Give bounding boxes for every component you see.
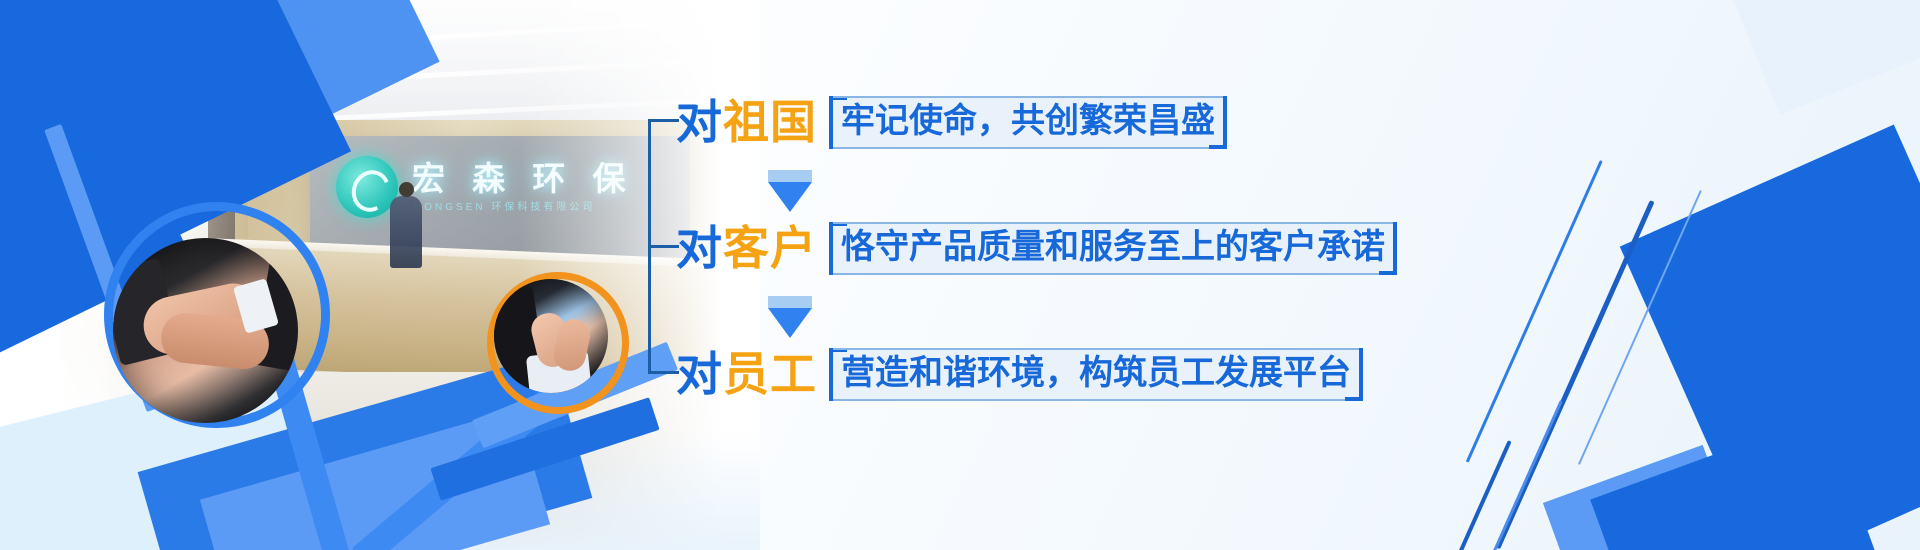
down-arrow-icon: [768, 170, 812, 212]
receptionist-figure: [390, 196, 422, 268]
slogan-lead-employee: 对员工: [676, 351, 817, 397]
slogan-group: 对祖国 牢记使命，共创繁荣昌盛 对客户 恪守产品质量: [648, 74, 1668, 394]
slogan-quote-country: 牢记使命，共创繁荣昌盛: [829, 96, 1227, 149]
bracket-branch: [651, 371, 679, 374]
arrow-bar: [768, 170, 812, 182]
quote-border-top: [829, 348, 1363, 350]
quote-border-left: [829, 96, 833, 149]
slogan-object: 祖国: [723, 96, 817, 148]
bracket-branch: [651, 119, 679, 122]
slogan-quote-employee: 营造和谐环境，构筑员工发展平台: [829, 348, 1363, 401]
quote-border-left: [829, 222, 833, 275]
slogan-prefix: 对: [676, 348, 723, 400]
bracket-connector: [648, 119, 679, 374]
quote-border-bottom: [829, 147, 1227, 149]
quote-border-bottom: [829, 273, 1397, 275]
slogan-quote-text: 牢记使命，共创繁荣昌盛: [841, 102, 1215, 140]
quote-border-left: [829, 348, 833, 401]
quote-border-right: [1223, 96, 1227, 149]
slogan-quote-text: 营造和谐环境，构筑员工发展平台: [841, 354, 1351, 392]
company-culture-banner: 宏 森 环 保 HONGSEN 环保科技有限公司: [0, 0, 1920, 550]
arrow-triangle: [768, 182, 812, 212]
slogan-object: 客户: [723, 222, 817, 274]
quote-border-top: [829, 96, 1227, 98]
quote-border-right: [1393, 222, 1397, 275]
quote-border-right: [1359, 348, 1363, 401]
slogan-row-customer: 对客户 恪守产品质量和服务至上的客户承诺: [676, 222, 1397, 275]
applause-photo: [494, 279, 608, 393]
quote-border-bottom: [829, 399, 1363, 401]
slogan-lead-customer: 对客户: [676, 225, 817, 271]
company-logo-icon: [336, 156, 398, 218]
decor-polygon-top-right: [1716, 0, 1920, 115]
down-arrow-icon: [768, 296, 812, 338]
slogan-object: 员工: [723, 348, 817, 400]
quote-border-top: [829, 222, 1397, 224]
slogan-prefix: 对: [676, 96, 723, 148]
slogan-lead-country: 对祖国: [676, 99, 817, 145]
arrow-triangle: [768, 308, 812, 338]
arrow-bar: [768, 296, 812, 308]
slogan-quote-customer: 恪守产品质量和服务至上的客户承诺: [829, 222, 1397, 275]
slogan-row-employee: 对员工 营造和谐环境，构筑员工发展平台: [676, 348, 1363, 401]
slogan-quote-text: 恪守产品质量和服务至上的客户承诺: [841, 228, 1385, 266]
slogan-row-country: 对祖国 牢记使命，共创繁荣昌盛: [676, 96, 1227, 149]
bracket-branch: [651, 245, 679, 248]
slogan-prefix: 对: [676, 222, 723, 274]
handshake-photo: [113, 238, 298, 423]
